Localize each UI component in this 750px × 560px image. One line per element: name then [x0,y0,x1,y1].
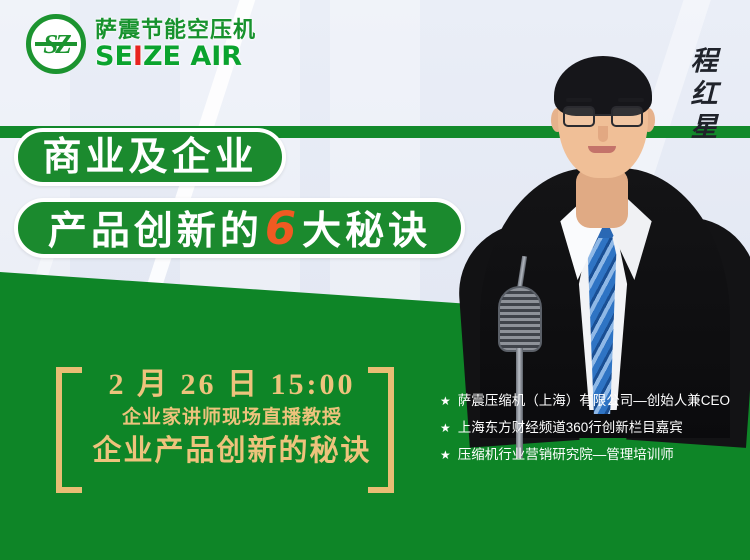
seize-air-circular-logo-icon: SZ [26,14,86,74]
event-details: 2 月 26 日 15:00 企业家讲师现场直播教授 企业产品创新的秘诀 [92,368,372,471]
headline-line-1: 商业及企业 [42,138,257,177]
portrait-eyebrow-right [618,98,644,102]
brand-wordmark: 萨震节能空压机 SEIZE AIR [95,18,256,69]
event-datetime: 2 月 26 日 15:00 [92,368,372,403]
brand-name-en-part2: ZE AIR [143,41,242,72]
speaker-name-char-1: 程 [691,48,718,75]
glasses-lens-right [611,106,643,127]
bracket-left-top [56,367,82,373]
glasses-lens-left [563,106,595,127]
brand-logo: SZ 萨震节能空压机 SEIZE AIR [26,14,256,74]
brand-name-cn: 萨震节能空压机 [95,18,256,41]
credential-text: 压缩机行业营销研究院—管理培训师 [458,446,674,464]
speaker-name-vertical: 程 红 星 [682,48,726,141]
bracket-right-vertical [388,367,394,493]
list-item: ★ 萨震压缩机（上海）有限公司—创始人兼CEO [440,392,740,410]
headline-line-2-before: 产品创新的 [48,210,263,253]
list-item: ★ 上海东方财经频道360行创新栏目嘉宾 [440,419,740,437]
portrait-glasses-icon [563,106,643,128]
brand-name-en-part1: SE [95,41,133,72]
event-subtitle: 企业家讲师现场直播教授 [92,403,372,433]
portrait-eyebrow-left [566,98,592,102]
glasses-bridge [595,114,611,116]
list-item: ★ 压缩机行业营销研究院—管理培训师 [440,446,740,464]
headline-line-2: 产品创新的6大秘诀 [48,206,431,251]
bracket-left-bottom [56,487,82,493]
brand-name-en-accent: I [133,41,143,72]
event-topic: 企业产品创新的秘诀 [92,433,372,471]
brand-name-en: SEIZE AIR [95,43,256,70]
headline-line-2-after: 大秘诀 [302,210,431,253]
bracket-left [56,367,82,493]
logo-monogram: SZ [43,31,69,58]
promo-banner: SZ 萨震节能空压机 SEIZE AIR [0,0,750,560]
star-icon: ★ [440,420,451,436]
star-icon: ★ [440,447,451,463]
speaker-name-char-2: 红 [691,81,718,108]
portrait-mouth [588,146,616,153]
bracket-left-vertical [56,367,62,493]
portrait-nose [598,126,608,142]
headline-pill-secondary: 产品创新的6大秘诀 [14,198,465,258]
bracket-right-bottom [368,487,394,493]
star-icon: ★ [440,393,451,409]
headline-pill-primary: 商业及企业 [14,128,286,186]
credentials-list: ★ 萨震压缩机（上海）有限公司—创始人兼CEO ★ 上海东方财经频道360行创新… [440,392,740,465]
headline-number: 6 [263,202,302,255]
credential-text: 上海东方财经频道360行创新栏目嘉宾 [458,419,683,437]
microphone-icon [498,286,542,352]
credential-text: 萨震压缩机（上海）有限公司—创始人兼CEO [458,392,730,410]
speaker-name-char-3: 星 [691,114,718,141]
